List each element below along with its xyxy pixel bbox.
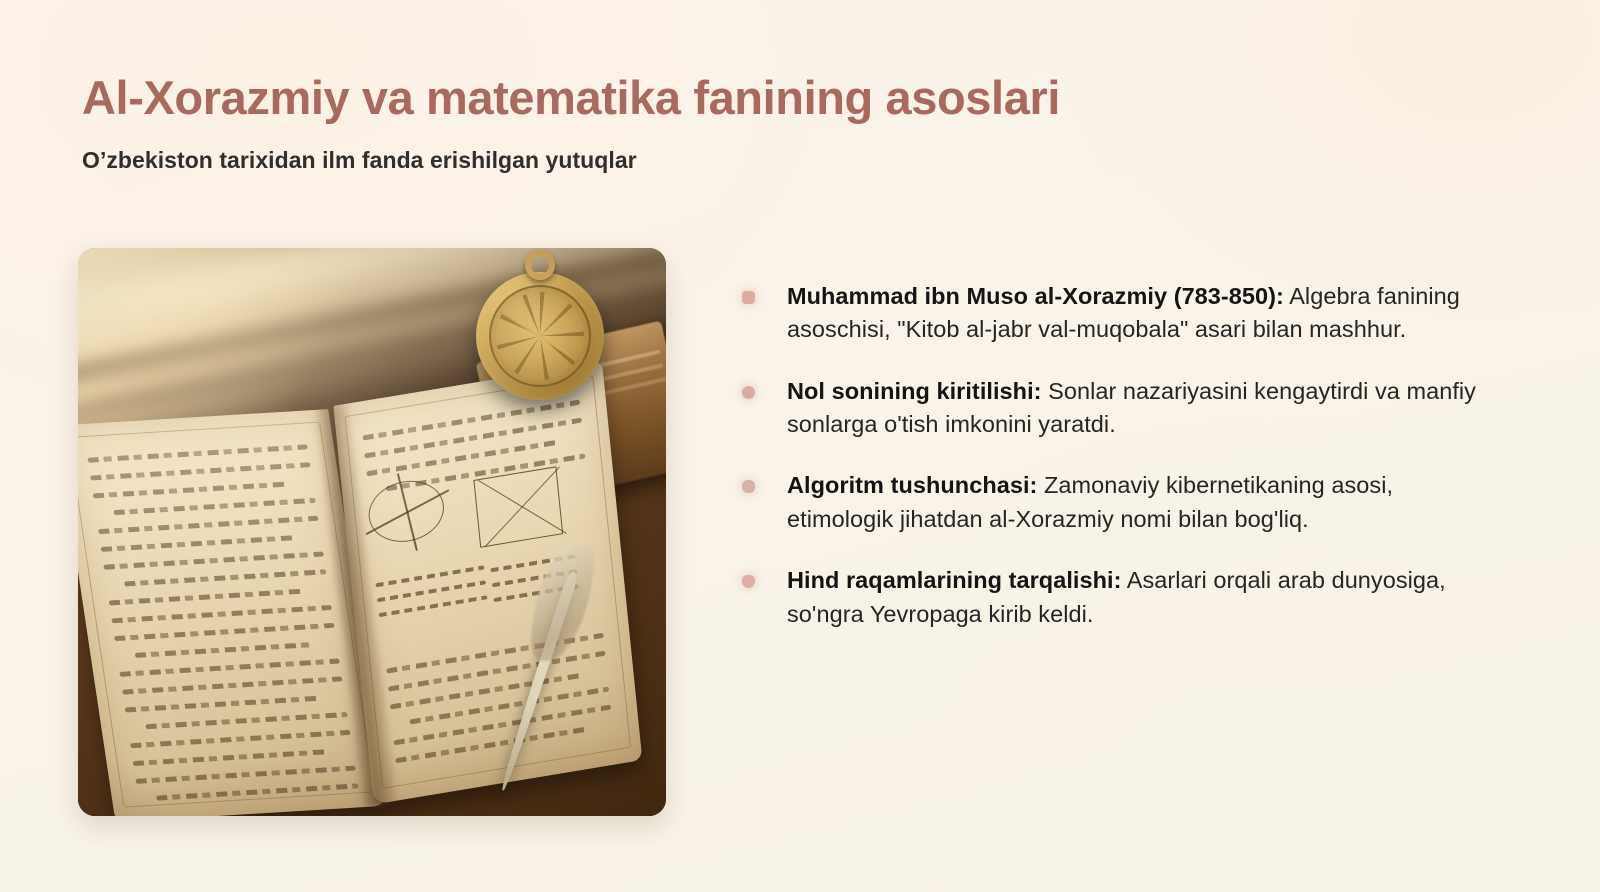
list-item: Muhammad ibn Muso al-Xorazmiy (783-850):… — [742, 280, 1494, 347]
presentation-slide: Al-Xorazmiy va matematika fanining asosl… — [0, 0, 1600, 892]
circle-bullet-icon — [742, 386, 755, 399]
slide-body: Muhammad ibn Muso al-Xorazmiy (783-850):… — [0, 240, 1600, 840]
manuscript-image-card — [78, 248, 666, 816]
list-item-text: Hind raqamlarining tarqalishi: Asarlari … — [787, 564, 1487, 631]
list-item: Algoritm tushunchasi: Zamonaviy kibernet… — [742, 469, 1494, 536]
dot-bullet-icon — [742, 575, 755, 588]
rounded-bullet-icon — [742, 480, 755, 493]
list-item-lead: Algoritm tushunchasi: — [787, 472, 1037, 498]
list-item-text: Muhammad ibn Muso al-Xorazmiy (783-850):… — [787, 280, 1487, 347]
astrolabe-spokes — [496, 292, 584, 380]
list-item: Nol sonining kiritilishi: Sonlar nazariy… — [742, 375, 1494, 442]
photo-scene — [78, 248, 666, 816]
slide-header: Al-Xorazmiy va matematika fanining asosl… — [82, 72, 1502, 174]
list-item-text: Nol sonining kiritilishi: Sonlar nazariy… — [787, 375, 1487, 442]
list-item-text: Algoritm tushunchasi: Zamonaviy kibernet… — [787, 469, 1487, 536]
slide-subtitle: O’zbekiston tarixidan ilm fanda erishilg… — [82, 147, 1502, 175]
astrolabe-icon — [476, 272, 604, 400]
square-diagram-icon — [473, 466, 563, 547]
list-item-lead: Muhammad ibn Muso al-Xorazmiy (783-850): — [787, 283, 1284, 309]
astrolabe-ring — [525, 250, 555, 280]
list-item-lead: Nol sonining kiritilishi: — [787, 378, 1042, 404]
page-title: Al-Xorazmiy va matematika fanining asosl… — [82, 72, 1502, 125]
list-item-lead: Hind raqamlarining tarqalishi: — [787, 567, 1121, 593]
key-points-list: Muhammad ibn Muso al-Xorazmiy (783-850):… — [742, 280, 1494, 631]
list-item: Hind raqamlarining tarqalishi: Asarlari … — [742, 564, 1494, 631]
square-bullet-icon — [742, 291, 755, 304]
